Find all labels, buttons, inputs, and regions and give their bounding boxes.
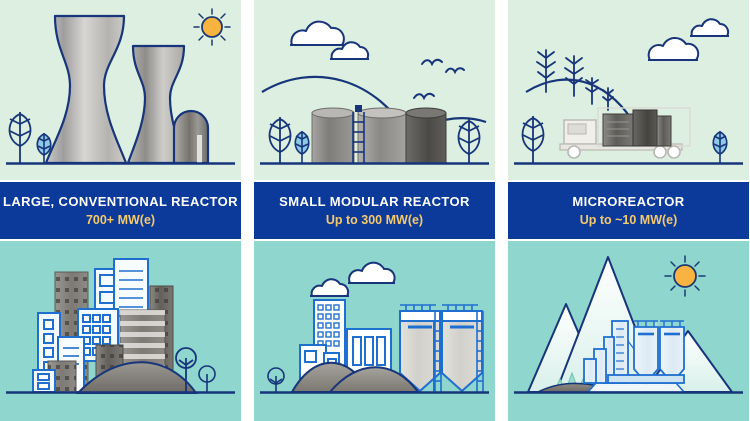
tree-large — [270, 117, 291, 163]
tree-large — [10, 112, 31, 163]
city-skyline-scene — [0, 241, 241, 421]
cloud-large — [348, 263, 395, 283]
dome-stack — [197, 135, 202, 163]
tree-small — [713, 131, 727, 163]
label-bar-small-modular-reactor: SMALL MODULAR REACTOR Up to 300 MW(e) — [254, 182, 495, 239]
column-large-conventional-reactor: LARGE, CONVENTIONAL REACTOR 700+ MW(e) — [0, 0, 241, 421]
tree-small — [199, 366, 215, 393]
bird-icon — [414, 60, 464, 98]
sun-icon — [665, 256, 705, 296]
reactor-module-1 — [312, 113, 354, 163]
reactor-module-2 — [358, 113, 406, 163]
cooling-towers-scene — [0, 0, 241, 180]
cloud-large — [290, 22, 344, 45]
label-bar-large-conventional-reactor: LARGE, CONVENTIONAL REACTOR 700+ MW(e) — [0, 182, 241, 239]
column-microreactor: MICROREACTOR Up to ~10 MW(e) — [508, 0, 749, 421]
label-capacity: Up to ~10 MW(e) — [580, 212, 678, 228]
label-capacity: 700+ MW(e) — [86, 212, 155, 228]
reactor-module-3 — [406, 113, 446, 163]
tree-right — [459, 119, 480, 163]
containment-dome — [174, 111, 208, 163]
cloud-small — [690, 19, 729, 36]
modular-units-scene — [254, 0, 495, 180]
tree-small — [268, 368, 284, 392]
tree-small — [295, 131, 309, 163]
column-small-modular-reactor: SMALL MODULAR REACTOR Up to 300 MW(e) — [254, 0, 495, 421]
label-bar-microreactor: MICROREACTOR Up to ~10 MW(e) — [508, 182, 749, 239]
truck-transport-scene — [508, 0, 749, 180]
office-block-outline-4 — [33, 370, 55, 392]
facility-pad — [588, 383, 684, 392]
cloud-large — [648, 38, 698, 60]
cooling-tower-large — [46, 16, 126, 163]
label-capacity: Up to 300 MW(e) — [326, 212, 423, 228]
cloud-small — [310, 279, 349, 296]
microreactor-module — [603, 110, 671, 146]
town-silos-scene — [254, 241, 495, 421]
silo-tank-2 — [442, 305, 482, 391]
label-title: SMALL MODULAR REACTOR — [279, 193, 470, 210]
mountain-facility-scene — [508, 241, 749, 421]
label-title: MICROREACTOR — [572, 193, 684, 210]
label-title: LARGE, CONVENTIONAL REACTOR — [3, 193, 238, 210]
tree-large — [523, 116, 544, 163]
infographic-board: LARGE, CONVENTIONAL REACTOR 700+ MW(e) — [0, 0, 750, 421]
sun-icon — [194, 9, 230, 45]
